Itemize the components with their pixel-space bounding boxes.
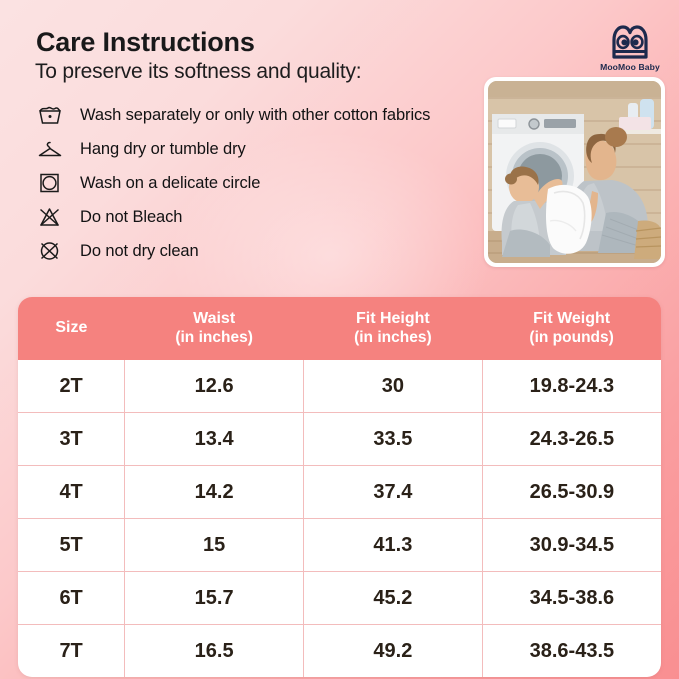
care-instructions-infographic: Care Instructions To preserve its softne… — [0, 0, 679, 679]
laundry-photo — [488, 81, 661, 263]
cell-height: 37.4 — [303, 466, 482, 519]
list-item: Hang dry or tumble dry — [34, 132, 494, 166]
cell-weight: 30.9-34.5 — [482, 519, 661, 572]
column-unit: (in inches) — [305, 329, 480, 348]
cell-weight: 34.5-38.6 — [482, 572, 661, 625]
column-title: Fit Height — [356, 310, 430, 327]
list-item: Wash on a delicate circle — [34, 166, 494, 200]
page-subtitle: To preserve its softness and quality: — [35, 60, 361, 84]
brand-logo: MooMoo Baby — [597, 23, 663, 72]
column-header-fit-weight: Fit Weight (in pounds) — [482, 297, 661, 360]
list-item: Do not Bleach — [34, 200, 494, 234]
column-header-fit-height: Fit Height (in inches) — [303, 297, 482, 360]
column-title: Waist — [193, 310, 235, 327]
table-row: 5T 15 41.3 30.9-34.5 — [18, 519, 661, 572]
cell-size: 3T — [18, 413, 125, 466]
laundry-photo-frame — [484, 77, 665, 267]
cell-height: 49.2 — [303, 625, 482, 678]
cell-height: 45.2 — [303, 572, 482, 625]
cell-waist: 15.7 — [125, 572, 304, 625]
cell-size: 5T — [18, 519, 125, 572]
wash-tub-icon — [34, 102, 66, 128]
cell-size: 6T — [18, 572, 125, 625]
table-row: 7T 16.5 49.2 38.6-43.5 — [18, 625, 661, 678]
tumble-dry-icon — [34, 170, 66, 196]
column-title: Size — [55, 319, 87, 336]
table-row: 2T 12.6 30 19.8-24.3 — [18, 360, 661, 413]
cell-size: 4T — [18, 466, 125, 519]
cell-height: 30 — [303, 360, 482, 413]
table-row: 3T 13.4 33.5 24.3-26.5 — [18, 413, 661, 466]
table-row: 4T 14.2 37.4 26.5-30.9 — [18, 466, 661, 519]
cell-waist: 13.4 — [125, 413, 304, 466]
table-header-row: Size Waist (in inches) Fit Height (in in… — [18, 297, 661, 360]
column-title: Fit Weight — [533, 310, 610, 327]
table-row: 6T 15.7 45.2 34.5-38.6 — [18, 572, 661, 625]
brand-name: MooMoo Baby — [597, 62, 663, 72]
care-instruction-list: Wash separately or only with other cotto… — [34, 98, 494, 268]
care-instruction-label: Hang dry or tumble dry — [80, 140, 246, 159]
cell-waist: 16.5 — [125, 625, 304, 678]
care-instruction-label: Wash separately or only with other cotto… — [80, 106, 430, 125]
care-instruction-label: Wash on a delicate circle — [80, 174, 260, 193]
hanger-icon — [34, 136, 66, 162]
list-item: Do not dry clean — [34, 234, 494, 268]
cell-weight: 19.8-24.3 — [482, 360, 661, 413]
cow-face-icon — [597, 23, 663, 61]
do-not-bleach-icon — [34, 204, 66, 230]
cell-height: 33.5 — [303, 413, 482, 466]
cell-waist: 14.2 — [125, 466, 304, 519]
column-unit: (in inches) — [127, 329, 302, 348]
cell-size: 7T — [18, 625, 125, 678]
cell-size: 2T — [18, 360, 125, 413]
column-header-size: Size — [18, 297, 125, 360]
column-header-waist: Waist (in inches) — [125, 297, 304, 360]
cell-weight: 24.3-26.5 — [482, 413, 661, 466]
size-chart-table: Size Waist (in inches) Fit Height (in in… — [18, 297, 661, 677]
cell-height: 41.3 — [303, 519, 482, 572]
care-instruction-label: Do not dry clean — [80, 242, 199, 261]
page-title: Care Instructions — [36, 27, 255, 58]
cell-weight: 38.6-43.5 — [482, 625, 661, 678]
do-not-dry-clean-icon — [34, 238, 66, 264]
care-instruction-label: Do not Bleach — [80, 208, 182, 227]
cell-waist: 12.6 — [125, 360, 304, 413]
column-unit: (in pounds) — [484, 329, 659, 348]
cell-weight: 26.5-30.9 — [482, 466, 661, 519]
cell-waist: 15 — [125, 519, 304, 572]
list-item: Wash separately or only with other cotto… — [34, 98, 494, 132]
